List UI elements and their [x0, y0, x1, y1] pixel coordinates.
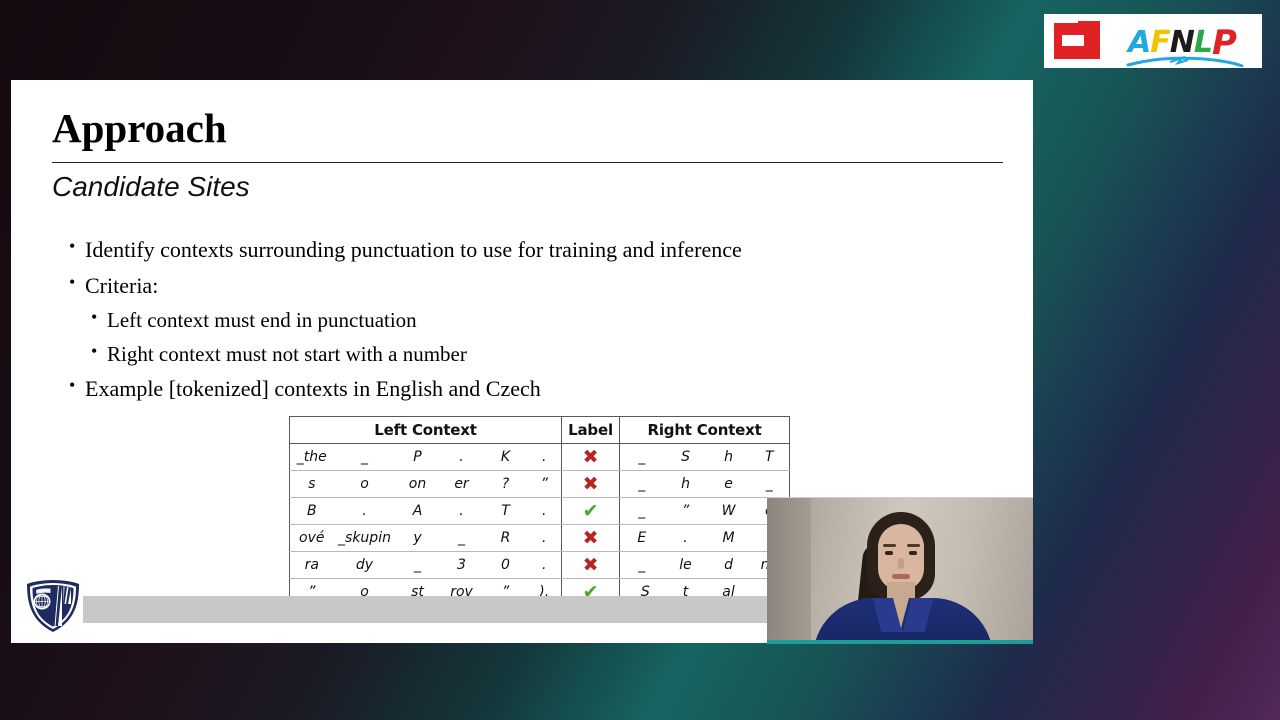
header-left-context: Left Context	[290, 417, 562, 444]
left-context-cell: P	[396, 444, 440, 471]
right-context-cell: h	[664, 471, 708, 498]
left-context-cell: _	[396, 552, 440, 579]
label-cell: ✖	[562, 471, 620, 498]
bullet-text: Left context must end in punctuation	[107, 303, 417, 337]
bullet-text: Criteria:	[85, 268, 158, 304]
screen-capture: AFNLP Approach Candidate Sites • Identif…	[0, 0, 1280, 720]
table-row: sooner?”✖_he_	[290, 471, 790, 498]
presenter-webcam-overlay[interactable]	[767, 497, 1033, 644]
left-context-cell: _	[334, 444, 396, 471]
afnlp-logo: AFNLP	[1044, 14, 1262, 68]
logo-swoosh-icon	[1126, 55, 1244, 67]
right-context-cell: W	[708, 498, 750, 525]
logo-letter-f: F	[1150, 28, 1170, 58]
bullet-text: Example [tokenized] contexts in English …	[85, 371, 541, 407]
bullet-text: Identify contexts surrounding punctuatio…	[85, 232, 742, 268]
header-right-context: Right Context	[620, 417, 790, 444]
bullet-marker-icon: •	[69, 232, 85, 261]
bullet-text: Right context must not start with a numb…	[107, 337, 467, 371]
left-context-cell: .	[440, 444, 484, 471]
table-row: _the_P.K.✖_ShT	[290, 444, 790, 471]
left-context-cell: _	[440, 525, 484, 552]
bullet-item: • Right context must not start with a nu…	[69, 337, 969, 371]
left-context-cell: ové	[290, 525, 334, 552]
left-context-cell: .	[528, 444, 562, 471]
afnlp-mark-icon	[1054, 21, 1116, 61]
left-context-cell: o	[334, 471, 396, 498]
left-context-cell: s	[290, 471, 334, 498]
left-context-cell: T	[484, 498, 528, 525]
table-row: rady_30.✖_ledna	[290, 552, 790, 579]
table-row: ové_skupiny_R.✖E.M.	[290, 525, 790, 552]
bullet-marker-icon: •	[69, 268, 85, 297]
left-context-cell: ra	[290, 552, 334, 579]
slide-bullet-list: • Identify contexts surrounding punctuat…	[69, 232, 969, 407]
left-context-cell: dy	[334, 552, 396, 579]
cross-icon: ✖	[583, 556, 599, 575]
title-divider	[52, 162, 1003, 163]
left-context-cell: 0	[484, 552, 528, 579]
left-context-cell: ?	[484, 471, 528, 498]
logo-letter-a: A	[1128, 28, 1150, 58]
cross-icon: ✖	[583, 475, 599, 494]
left-context-cell: on	[396, 471, 440, 498]
left-context-cell: y	[396, 525, 440, 552]
label-cell: ✔	[562, 498, 620, 525]
context-table-container: Left Context Label Right Context _the_P.…	[289, 416, 789, 606]
label-cell: ✖	[562, 552, 620, 579]
bullet-item: • Criteria:	[69, 268, 969, 304]
bullet-item: • Identify contexts surrounding punctuat…	[69, 232, 969, 268]
right-context-cell: S	[664, 444, 708, 471]
left-context-cell: B	[290, 498, 334, 525]
bullet-marker-icon: •	[69, 371, 85, 400]
bullet-marker-icon: •	[91, 303, 107, 332]
left-context-cell: R	[484, 525, 528, 552]
left-context-cell: K	[484, 444, 528, 471]
right-context-cell: _	[620, 444, 664, 471]
table-body: _the_P.K.✖_ShTsooner?”✖_he_B.A.T.✔_”Weov…	[290, 444, 790, 606]
left-context-cell: .	[528, 525, 562, 552]
right-context-cell: le	[664, 552, 708, 579]
right-context-cell: M	[708, 525, 750, 552]
left-context-cell: _the	[290, 444, 334, 471]
afnlp-wordmark: AFNLP	[1128, 24, 1236, 58]
table-row: B.A.T.✔_”We	[290, 498, 790, 525]
check-icon: ✔	[583, 502, 599, 521]
johns-hopkins-shield-icon	[22, 577, 84, 635]
right-context-cell: h	[708, 444, 750, 471]
context-examples-table: Left Context Label Right Context _the_P.…	[289, 416, 790, 606]
cross-icon: ✖	[583, 448, 599, 467]
presenter-figure	[767, 498, 1033, 644]
right-context-cell: _	[620, 552, 664, 579]
bullet-marker-icon: •	[91, 337, 107, 366]
bullet-item: • Left context must end in punctuation	[69, 303, 969, 337]
left-context-cell: er	[440, 471, 484, 498]
right-context-cell: _	[750, 471, 790, 498]
label-cell: ✖	[562, 444, 620, 471]
left-context-cell: .	[528, 498, 562, 525]
right-context-cell: _	[620, 471, 664, 498]
left-context-cell: ”	[528, 471, 562, 498]
slide-title: Approach	[52, 108, 227, 149]
label-cell: ✖	[562, 525, 620, 552]
table-header: Left Context Label Right Context	[290, 417, 790, 444]
right-context-cell: _	[620, 498, 664, 525]
right-context-cell: e	[708, 471, 750, 498]
left-context-cell: A	[396, 498, 440, 525]
left-context-cell: _skupin	[334, 525, 396, 552]
header-label: Label	[562, 417, 620, 444]
slide-subtitle: Candidate Sites	[52, 170, 250, 204]
left-context-cell: .	[528, 552, 562, 579]
cross-icon: ✖	[583, 529, 599, 548]
bullet-item: • Example [tokenized] contexts in Englis…	[69, 371, 969, 407]
right-context-cell: T	[750, 444, 790, 471]
right-context-cell: ”	[664, 498, 708, 525]
right-context-cell: E	[620, 525, 664, 552]
left-context-cell: .	[440, 498, 484, 525]
logo-letter-l: L	[1194, 28, 1212, 58]
left-context-cell: 3	[440, 552, 484, 579]
left-context-cell: .	[334, 498, 396, 525]
right-context-cell: .	[664, 525, 708, 552]
right-context-cell: d	[708, 552, 750, 579]
logo-letter-n: N	[1170, 28, 1194, 58]
